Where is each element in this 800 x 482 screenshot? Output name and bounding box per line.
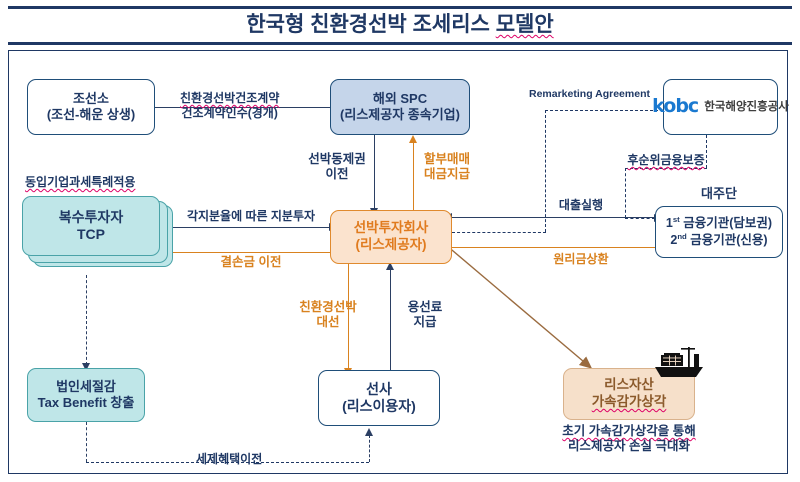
edge-label-charter-fee-line1: 용선료	[408, 300, 443, 314]
edge-sub-guarantee-v2	[625, 168, 626, 218]
node-lease-asset-note-line1: 초기 가속감가상각을 통해	[562, 424, 695, 438]
node-lenders[interactable]: 1st 금융기관(담보권) 2nd 금융기관(신용)	[655, 206, 783, 258]
node-overseas-spc[interactable]: 해외 SPC (리스제공자 종속기업)	[330, 79, 470, 135]
node-lenders-caption: 대주단	[660, 186, 778, 202]
node-sif-line2: (리스제공자)	[355, 237, 426, 254]
node-tcp-caption: 동입기업과세특례적용	[25, 175, 135, 190]
diagram-canvas: 한국형 친환경선박 조세리스 모델안	[0, 0, 800, 482]
edge-label-tax-transfer-text: 세제혜택이전	[196, 452, 262, 466]
edge-label-loan-exec-text: 대출실행	[559, 198, 603, 212]
edge-label-sub-guarantee-text: 후순위금융보증	[627, 153, 704, 167]
edge-remarketing-h1	[545, 110, 663, 111]
node-lenders-caption-text: 대주단	[701, 186, 737, 201]
node-tcp-line2: TCP	[77, 226, 105, 244]
node-shipyard[interactable]: 조선소 (조선-해운 상생)	[27, 79, 155, 135]
edge-label-installment-line1: 할부매매	[424, 152, 470, 166]
edge-label-loan-repay: 원리금상환	[545, 252, 617, 267]
node-carrier-line2: (리스이용자)	[342, 398, 416, 416]
node-tcp-line1: 복수투자자	[59, 209, 123, 227]
edge-label-equity-invest-text: 각지분율에 따른 지분투자	[187, 209, 315, 223]
node-tax-benefit[interactable]: 법인세절감 Tax Benefit 창출	[27, 368, 145, 422]
edge-installment-arrow	[409, 135, 417, 143]
edge-label-charter-fee-line2: 지급	[413, 315, 436, 329]
node-carrier[interactable]: 선사 (리스이용자)	[318, 370, 440, 426]
edge-label-ship-control-line1: 선박동제권	[308, 152, 366, 166]
edge-label-loan-repay-text: 원리금상환	[553, 252, 608, 266]
node-carrier-line1: 선사	[366, 381, 392, 399]
edge-label-charter-fee: 용선료 지급	[394, 300, 456, 331]
node-tcp[interactable]: 복수투자자 TCP	[22, 196, 160, 256]
node-tax-benefit-line1: 법인세절감	[56, 379, 116, 395]
edge-remarketing-h2	[452, 232, 546, 233]
node-shipyard-line1: 조선소	[73, 91, 109, 107]
edge-installment-line	[413, 142, 414, 212]
edge-loss-transfer-line	[172, 252, 330, 253]
title-rule-bottom	[8, 42, 792, 45]
title-rule-top	[8, 6, 792, 9]
node-overseas-spc-line1: 해외 SPC	[373, 91, 427, 107]
ship-icon	[653, 345, 707, 381]
edge-label-remarketing-text: Remarketing Agreement	[529, 88, 650, 100]
edge-label-eco-charter-line1: 친환경선박	[299, 300, 357, 314]
edge-sub-guarantee-h2	[625, 218, 655, 219]
node-lease-asset-note-line2: 리스제공자 손실 극대화	[568, 439, 690, 453]
edge-label-eco-charter-line2: 대선	[316, 315, 339, 329]
edge-label-build-contract-line2: 건조계약인수(경개)	[182, 106, 278, 120]
node-tax-benefit-line2: Tax Benefit 창출	[38, 395, 135, 411]
edge-label-installment: 할부매매 대금지급	[416, 152, 478, 183]
edge-label-loan-exec: 대출실행	[545, 198, 617, 213]
edge-label-ship-control: 선박동제권 이전	[303, 152, 371, 183]
edge-label-build-contract-line1: 친환경선박건조계약	[180, 91, 279, 105]
node-shipyard-line2: (조선-해운 상생)	[47, 107, 135, 123]
edge-label-installment-line2: 대금지급	[424, 167, 470, 181]
edge-tcp-to-taxbenefit-line	[86, 275, 87, 365]
edge-label-loss-transfer: 결손금 이전	[196, 255, 306, 270]
node-tcp-caption-text: 동입기업과세특례적용	[25, 175, 135, 189]
kobc-logo-label: 한국해양진흥공사	[704, 100, 789, 114]
node-sif-line1: 선박투자회사	[354, 220, 429, 237]
kobc-logo-icon: kobc	[652, 95, 698, 119]
edge-tax-transfer-v2	[369, 435, 370, 462]
node-lenders-line1: 1st 금융기관(담보권)	[666, 215, 772, 232]
edge-remarketing-v	[545, 110, 546, 232]
node-kobc[interactable]: kobc 한국해양진흥공사	[663, 79, 778, 135]
page-title: 한국형 친환경선박 조세리스 모델안	[0, 10, 800, 40]
node-lease-asset-line1: 리스자산	[604, 377, 654, 394]
node-ship-investment-company[interactable]: 선박투자회사 (리스제공자)	[330, 210, 452, 264]
edge-label-ship-control-line2: 이전	[325, 167, 348, 181]
edge-tax-transfer-arrow	[365, 428, 373, 436]
node-lease-asset-line2: 가속감가상각	[592, 394, 667, 411]
page-title-text: 한국형 친환경선박 조세리스	[246, 13, 495, 36]
node-overseas-spc-line2: (리스제공자 종속기업)	[340, 107, 460, 123]
edge-label-tax-transfer: 세제혜택이전	[196, 452, 262, 467]
node-lease-asset-note: 초기 가속감가상각을 통해 리스제공자 손실 극대화	[547, 424, 711, 455]
kobc-logo: kobc 한국해양진흥공사	[652, 95, 789, 119]
edge-label-build-contract: 친환경선박건조계약 건조계약인수(경개)	[180, 91, 279, 120]
edge-label-sub-guarantee: 후순위금융보증	[620, 153, 712, 168]
edge-ship-control-line	[374, 135, 375, 210]
edge-label-equity-invest: 각지분율에 따른 지분투자	[176, 209, 326, 224]
node-lenders-line2: 2nd 금융기관(신용)	[670, 232, 767, 249]
edge-label-remarketing: Remarketing Agreement	[529, 88, 650, 101]
edge-charter-fee-line	[390, 268, 391, 372]
edge-tax-transfer-v1	[86, 422, 87, 462]
edge-equity-invest-line	[172, 227, 330, 228]
edge-sub-guarantee-h1	[625, 168, 707, 169]
edge-label-eco-charter: 친환경선박 대선	[292, 300, 364, 331]
page-title-emphasis: 모델안	[496, 13, 554, 36]
edge-label-loss-transfer-text: 결손금 이전	[221, 255, 282, 269]
